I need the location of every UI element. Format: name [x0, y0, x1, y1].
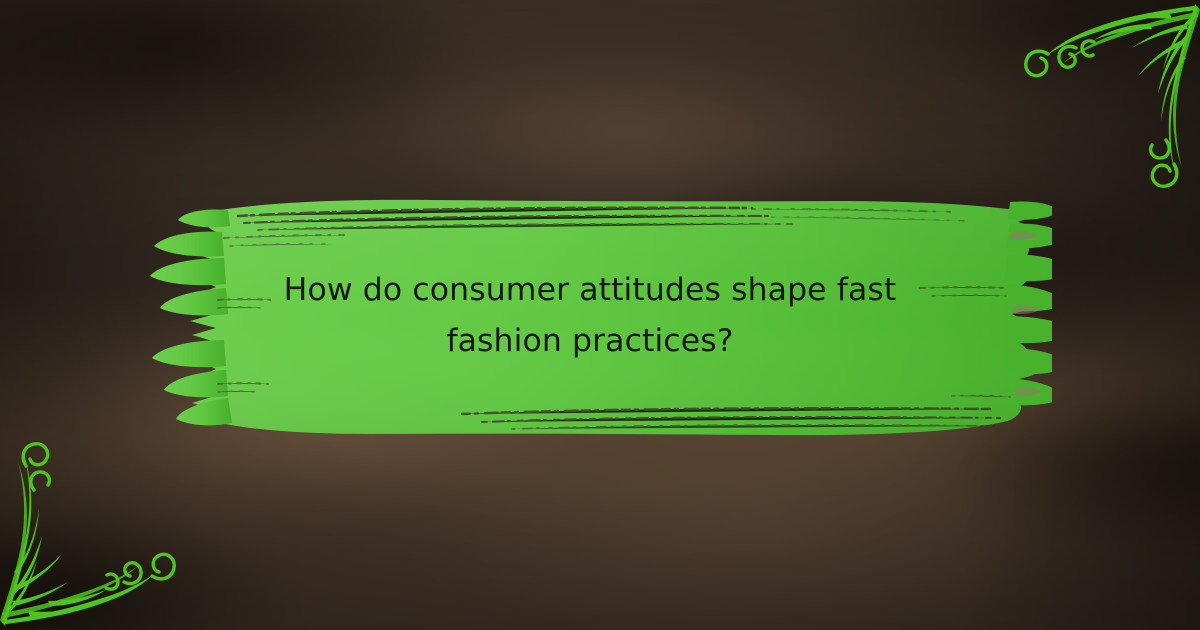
page-title: How do consumer attitudes shape fast fas… — [150, 265, 1030, 367]
question-card: How do consumer attitudes shape fast fas… — [0, 0, 1200, 630]
